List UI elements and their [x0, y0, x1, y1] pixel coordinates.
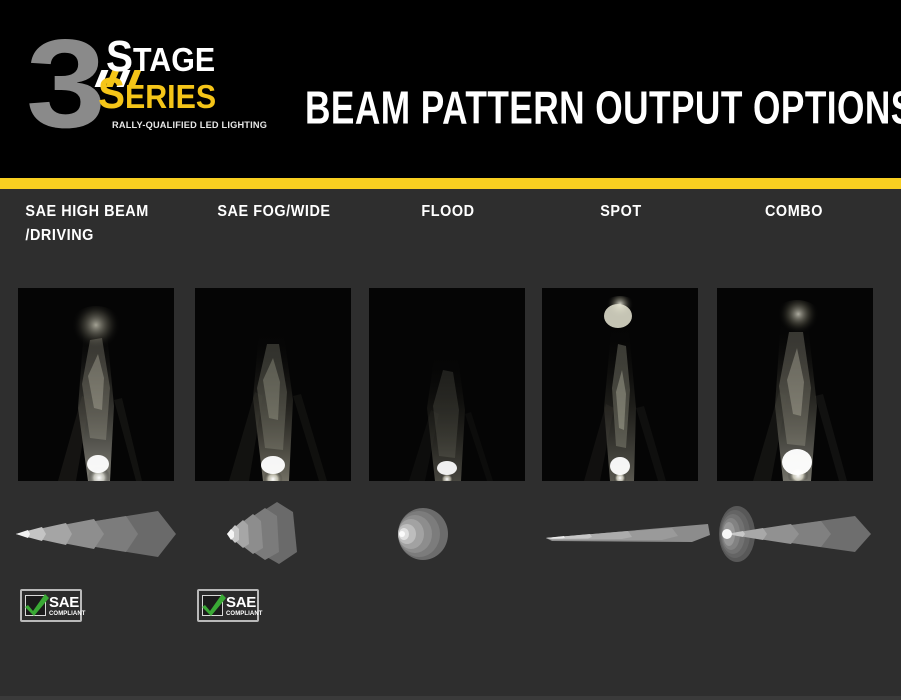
beam-diagram-shape: [705, 494, 883, 572]
beam-photo-image: [717, 288, 873, 481]
logo-3-stage-series: 3 STAGE SERIES RALLY-QUALIFIED LED LIGHT…: [26, 28, 276, 140]
beam-photo-combo: [717, 288, 873, 481]
sae-badge-line1: SAE: [226, 595, 263, 610]
column-sae-fog-wide: SAE FOG/WIDE: [185, 189, 363, 700]
beam-diagram-flood: [359, 494, 537, 572]
logo-tagline: RALLY-QUALIFIED LED LIGHTING: [112, 120, 267, 131]
beam-photo-flood: [369, 288, 525, 481]
green-check-icon: [25, 595, 46, 616]
logo-numeral-3: 3: [26, 28, 101, 140]
logo-series-rest: ERIES: [125, 78, 216, 115]
beam-diagram-sae-high-beam-driving: [8, 494, 186, 572]
beam-diagram-shape: [532, 494, 710, 572]
beam-pattern-infographic: 3 STAGE SERIES RALLY-QUALIFIED LED LIGHT…: [0, 0, 901, 700]
beam-photo-spot: [542, 288, 698, 481]
beam-diagram-shape: [8, 494, 186, 572]
column-flood: FLOOD: [359, 189, 537, 700]
beam-photo-sae-fog-wide: [195, 288, 351, 481]
beam-photo-sae-high-beam-driving: [18, 288, 174, 481]
sae-compliant-badge: SAE COMPLIANT: [197, 589, 259, 622]
yellow-accent-divider: [0, 178, 901, 189]
beam-photo-image: [369, 288, 525, 481]
sae-badge-text: SAE COMPLIANT: [49, 595, 86, 617]
beam-photo-image: [18, 288, 174, 481]
logo-stage-rest: TAGE: [133, 41, 215, 78]
column-label: FLOOD: [365, 200, 531, 224]
sae-badge-line2: COMPLIANT: [49, 611, 86, 617]
column-label: SPOT: [538, 200, 704, 224]
page-title: BEAM PATTERN OUTPUT OPTIONS: [305, 82, 901, 135]
logo-word-series: SERIES: [98, 77, 216, 114]
header-bar: 3 STAGE SERIES RALLY-QUALIFIED LED LIGHT…: [0, 0, 901, 178]
beam-diagram-shape: [185, 494, 363, 572]
column-label: SAE FOG/WIDE: [191, 200, 357, 224]
column-sae-high-beam-driving: SAE HIGH BEAM /DRIVING: [8, 189, 186, 700]
sae-badge-line2: COMPLIANT: [226, 611, 263, 617]
beam-diagram-sae-fog-wide: [185, 494, 363, 572]
column-spot: SPOT: [532, 189, 710, 700]
beam-photo-image: [195, 288, 351, 481]
logo-series-capital: S: [98, 69, 125, 118]
beam-diagram-spot: [532, 494, 710, 572]
green-check-icon: [202, 595, 223, 616]
beam-photo-image: [542, 288, 698, 481]
sae-badge-line1: SAE: [49, 595, 86, 610]
column-combo: COMBO: [705, 189, 883, 700]
beam-pattern-columns: SAE HIGH BEAM /DRIVING: [0, 189, 901, 700]
column-label: COMBO: [711, 200, 877, 224]
footer-divider: [0, 696, 901, 700]
sae-compliant-badge: SAE COMPLIANT: [20, 589, 82, 622]
column-label: SAE HIGH BEAM /DRIVING: [14, 200, 180, 248]
beam-diagram-combo: [705, 494, 883, 572]
beam-diagram-shape: [359, 494, 537, 572]
sae-badge-text: SAE COMPLIANT: [226, 595, 263, 617]
